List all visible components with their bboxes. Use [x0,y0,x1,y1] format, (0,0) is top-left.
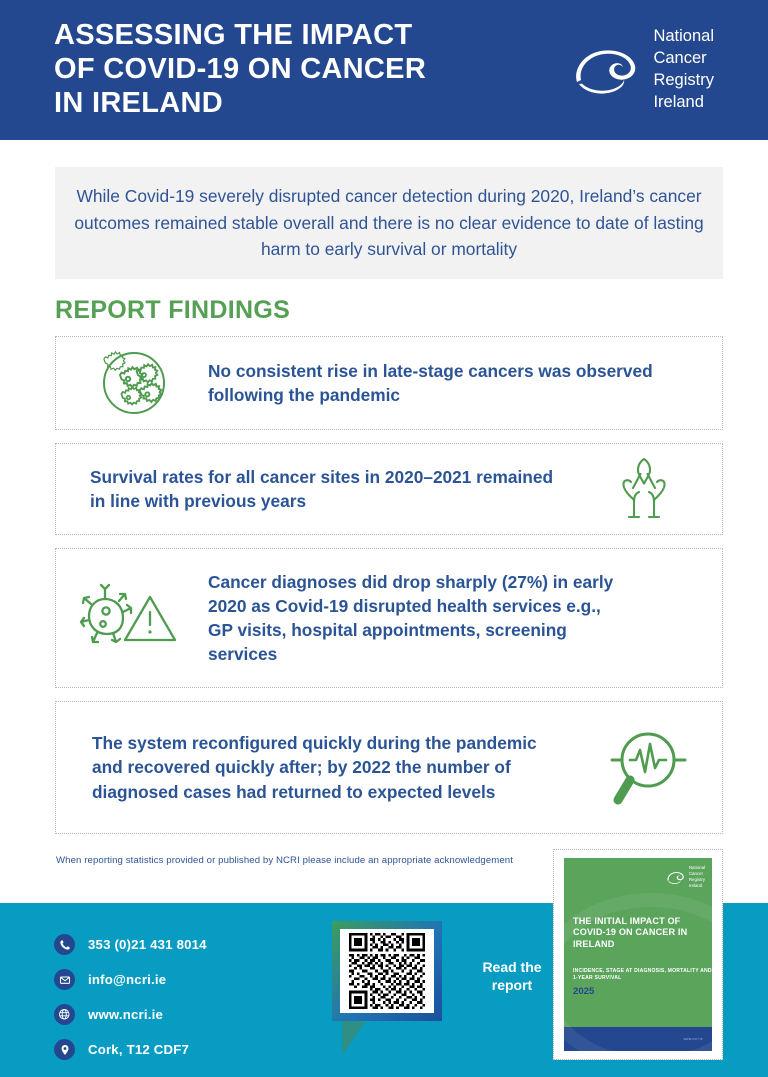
page-title-line-2: OF COVID-19 ON CANCER [54,53,426,87]
globe-icon [54,1004,75,1025]
logo-word-1: National [653,26,714,48]
contact-item-phone[interactable]: 353 (0)21 431 8014 [54,929,207,960]
hands-holding-ribbon-icon [584,452,704,526]
contact-item-email[interactable]: info@ncri.ie [54,964,207,995]
contact-address-label: Cork, T12 CDF7 [88,1042,189,1057]
acknowledgement-note: When reporting statistics provided or pu… [56,855,513,866]
phone-icon [54,934,75,955]
cover-year: 2025 [573,986,594,997]
ncri-spiral-icon [571,40,643,100]
report-findings-heading: REPORT FINDINGS [55,296,290,325]
finding-card-4-text: The system reconfigured quickly during t… [74,731,572,804]
cells-in-circle-icon [74,347,194,419]
finding-card-3: Cancer diagnoses did drop sharply (27%) … [55,548,723,688]
finding-card-4: The system reconfigured quickly during t… [55,701,723,834]
finding-card-2-text: Survival rates for all cancer sites in 2… [74,465,564,513]
contact-item-website[interactable]: www.ncri.ie [54,999,207,1030]
findings-list: No consistent rise in late-stage cancers… [55,336,723,847]
cover-spiral-icon [666,869,686,886]
infographic-page: ASSESSING THE IMPACT OF COVID-19 ON CANC… [0,0,768,1077]
ncri-logo: National Cancer Registry Ireland [571,26,740,113]
page-title-line-3: IN IRELAND [54,87,426,121]
intro-callout: While Covid-19 severely disrupted cancer… [55,167,723,279]
cover-ncri-logo: National Cancer Registry Ireland [666,865,705,889]
contact-email-label: info@ncri.ie [88,972,166,987]
virus-warning-icon [74,572,194,664]
qr-code-bubble[interactable] [332,921,448,1055]
contact-website-label: www.ncri.ie [88,1007,163,1022]
qr-bubble-tail [342,1021,366,1055]
intro-text: While Covid-19 severely disrupted cancer… [55,183,723,262]
finding-card-3-text: Cancer diagnoses did drop sharply (27%) … [208,570,628,667]
cover-title: THE INITIAL IMPACT OF COVID-19 ON CANCER… [573,916,708,950]
report-cover-thumbnail[interactable]: National Cancer Registry Ireland THE INI… [553,849,723,1060]
page-title-line-1: ASSESSING THE IMPACT [54,19,426,53]
finding-card-2: Survival rates for all cancer sites in 2… [55,443,723,535]
magnifier-heartbeat-icon [584,726,704,810]
ncri-logo-text: National Cancer Registry Ireland [653,26,714,113]
finding-card-1-text: No consistent rise in late-stage cancers… [208,359,678,407]
logo-word-3: Registry [653,70,714,92]
qr-bubble-frame [332,921,442,1021]
read-report-caption: Read the report [466,958,558,995]
qr-code[interactable] [340,929,434,1013]
contact-phone-label: 353 (0)21 431 8014 [88,937,207,952]
report-cover: National Cancer Registry Ireland THE INI… [564,858,712,1051]
cover-logo-text: National Cancer Registry Ireland [689,865,705,889]
location-pin-icon [54,1039,75,1060]
contact-item-address[interactable]: Cork, T12 CDF7 [54,1034,207,1065]
envelope-icon [54,969,75,990]
cover-logo-word-4: Ireland [689,883,705,889]
header-divider [0,140,768,146]
read-report-line-2: report [492,977,532,993]
finding-card-1: No consistent rise in late-stage cancers… [55,336,723,430]
cover-subtitle: INCIDENCE, STAGE AT DIAGNOSIS, MORTALITY… [573,968,712,983]
read-report-line-1: Read the [482,959,541,975]
logo-word-2: Cancer [653,48,714,70]
page-title: ASSESSING THE IMPACT OF COVID-19 ON CANC… [54,19,426,121]
cover-footer-bar: www.ncri.ie [564,1027,712,1051]
logo-word-4: Ireland [653,92,714,114]
page-header: ASSESSING THE IMPACT OF COVID-19 ON CANC… [0,0,768,140]
cover-footer-text: www.ncri.ie [684,1037,703,1041]
contact-list: 353 (0)21 431 8014 info@ncri.ie [54,929,207,1069]
